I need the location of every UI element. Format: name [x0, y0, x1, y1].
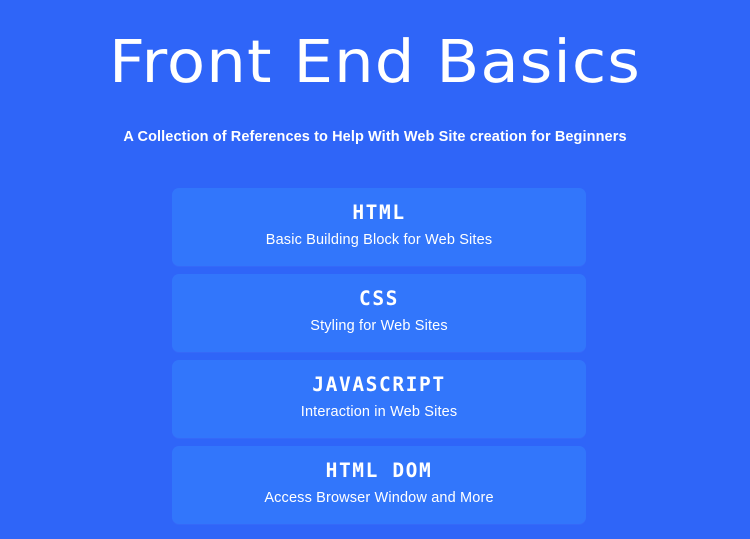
card-title: CSS	[359, 287, 399, 311]
card-description: Interaction in Web Sites	[301, 403, 457, 422]
card-title: HTML	[352, 201, 405, 225]
reference-card-list: HTML Basic Building Block for Web Sites …	[172, 188, 586, 524]
page-root: Front End Basics A Collection of Referen…	[0, 0, 750, 539]
page-subtitle: A Collection of References to Help With …	[0, 128, 750, 146]
card-title: JAVASCRIPT	[312, 373, 445, 397]
card-title: HTML DOM	[326, 459, 433, 483]
reference-card-html[interactable]: HTML Basic Building Block for Web Sites	[172, 188, 586, 266]
card-description: Basic Building Block for Web Sites	[266, 231, 492, 250]
reference-card-css[interactable]: CSS Styling for Web Sites	[172, 274, 586, 352]
reference-card-html-dom[interactable]: HTML DOM Access Browser Window and More	[172, 446, 586, 524]
reference-card-javascript[interactable]: JAVASCRIPT Interaction in Web Sites	[172, 360, 586, 438]
card-description: Styling for Web Sites	[310, 317, 447, 336]
page-title: Front End Basics	[0, 28, 750, 96]
card-description: Access Browser Window and More	[264, 489, 493, 508]
